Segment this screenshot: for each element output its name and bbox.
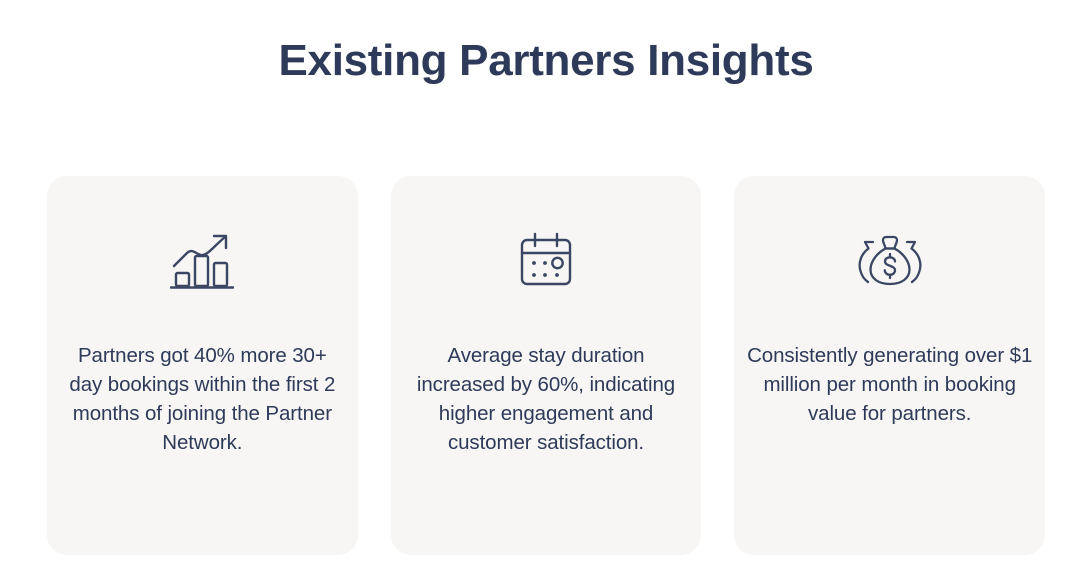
insight-cards-row: Partners got 40% more 30+ day bookings w…: [47, 176, 1045, 555]
insight-card: Average stay duration increased by 60%, …: [391, 176, 702, 555]
money-bag-dollar-icon: [853, 223, 927, 297]
calendar-icon: [509, 223, 583, 297]
insight-card: Partners got 40% more 30+ day bookings w…: [47, 176, 358, 555]
insights-page: Existing Partners Insights Partners got …: [0, 0, 1092, 588]
insight-card: Consistently generating over $1 million …: [734, 176, 1045, 555]
insight-card-text: Partners got 40% more 30+ day bookings w…: [47, 341, 358, 457]
bar-chart-growth-icon: [165, 223, 239, 297]
insight-card-text: Consistently generating over $1 million …: [734, 341, 1045, 428]
page-title: Existing Partners Insights: [0, 36, 1092, 87]
insight-card-text: Average stay duration increased by 60%, …: [391, 341, 702, 457]
